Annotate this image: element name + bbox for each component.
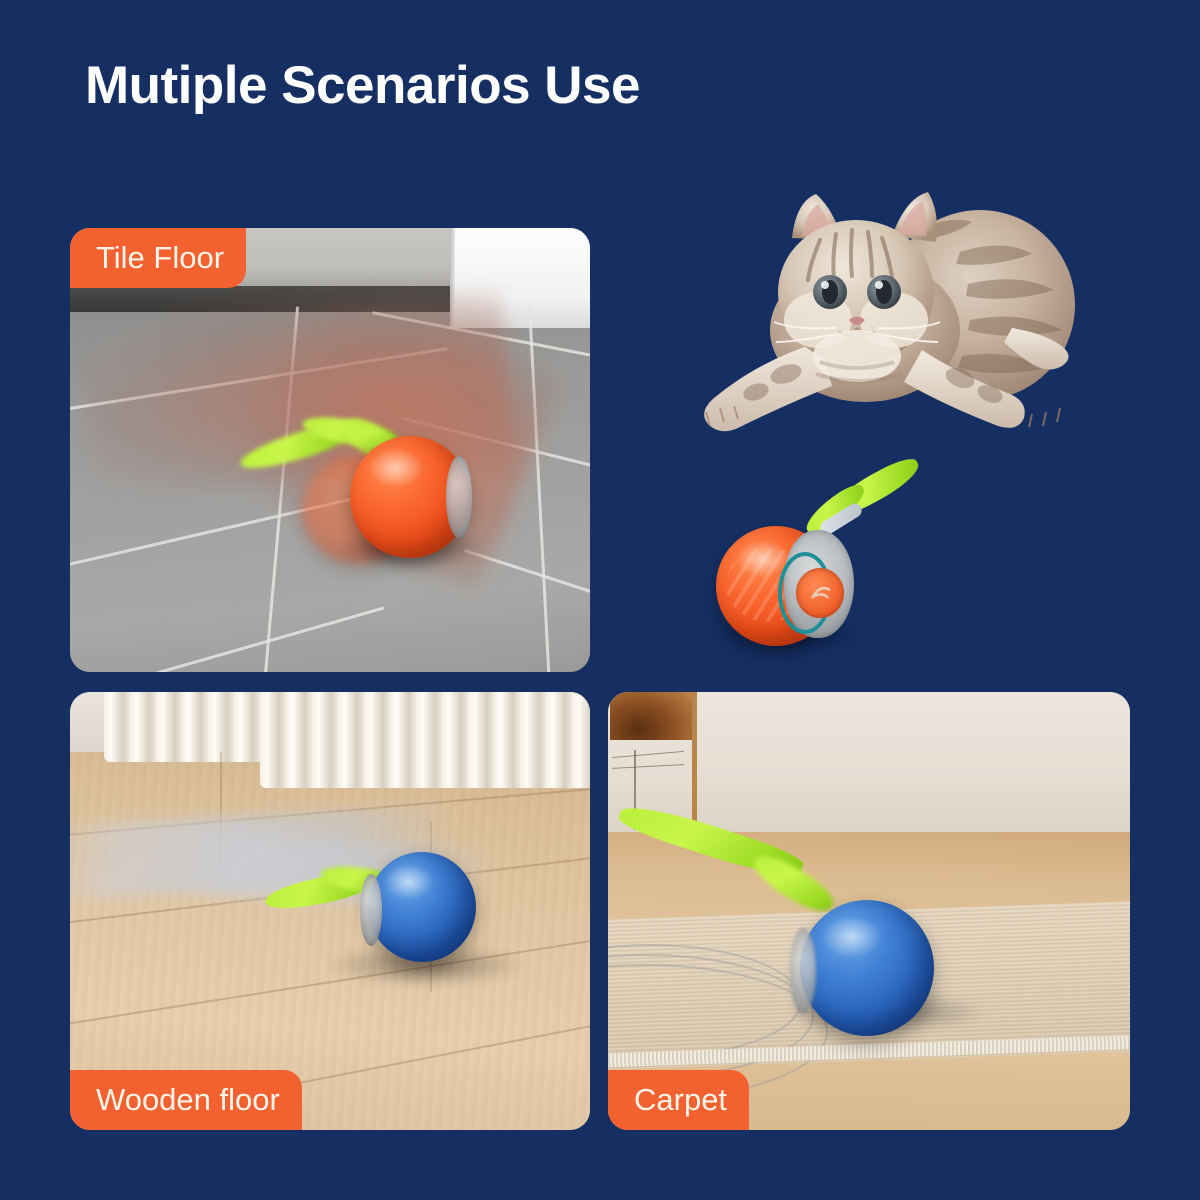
badge-carpet[interactable]: Carpet <box>608 1070 749 1130</box>
scenario-panel-carpet[interactable]: Carpet <box>608 692 1130 1130</box>
carpet-photo <box>608 692 1130 1130</box>
toy-wheel-hub <box>790 928 816 1014</box>
ball-highlight <box>368 448 424 488</box>
toy-wheel-hub <box>360 874 382 946</box>
badge-tile-floor[interactable]: Tile Floor <box>70 228 246 288</box>
ball-highlight <box>822 916 882 958</box>
toy-ball-blue <box>800 900 934 1036</box>
curtain-right <box>260 692 590 788</box>
toy-power-button[interactable] <box>796 568 844 618</box>
toy-ball-blue <box>368 852 476 962</box>
badge-label: Wooden floor <box>96 1082 280 1118</box>
scenario-panel-wooden-floor[interactable]: Wooden floor <box>70 692 590 1130</box>
wooden-floor-photo <box>70 692 590 1130</box>
scenario-panel-tile-floor[interactable]: Tile Floor <box>70 228 590 672</box>
badge-wooden-floor[interactable]: Wooden floor <box>70 1070 302 1130</box>
poster-canvas: Mutiple Scenarios Use <box>0 0 1200 1200</box>
page-title: Mutiple Scenarios Use <box>85 57 640 115</box>
hero-toy-ball <box>700 470 930 660</box>
badge-label: Carpet <box>634 1082 727 1118</box>
badge-label: Tile Floor <box>96 240 224 276</box>
toy-wheel-hub <box>446 456 472 538</box>
framed-picture-art <box>610 692 692 740</box>
cat-illustration <box>660 180 1110 490</box>
curtain-left <box>104 692 284 762</box>
ball-highlight <box>384 864 434 900</box>
tile-floor-photo <box>70 228 590 672</box>
hero-cat-image <box>660 180 1110 490</box>
